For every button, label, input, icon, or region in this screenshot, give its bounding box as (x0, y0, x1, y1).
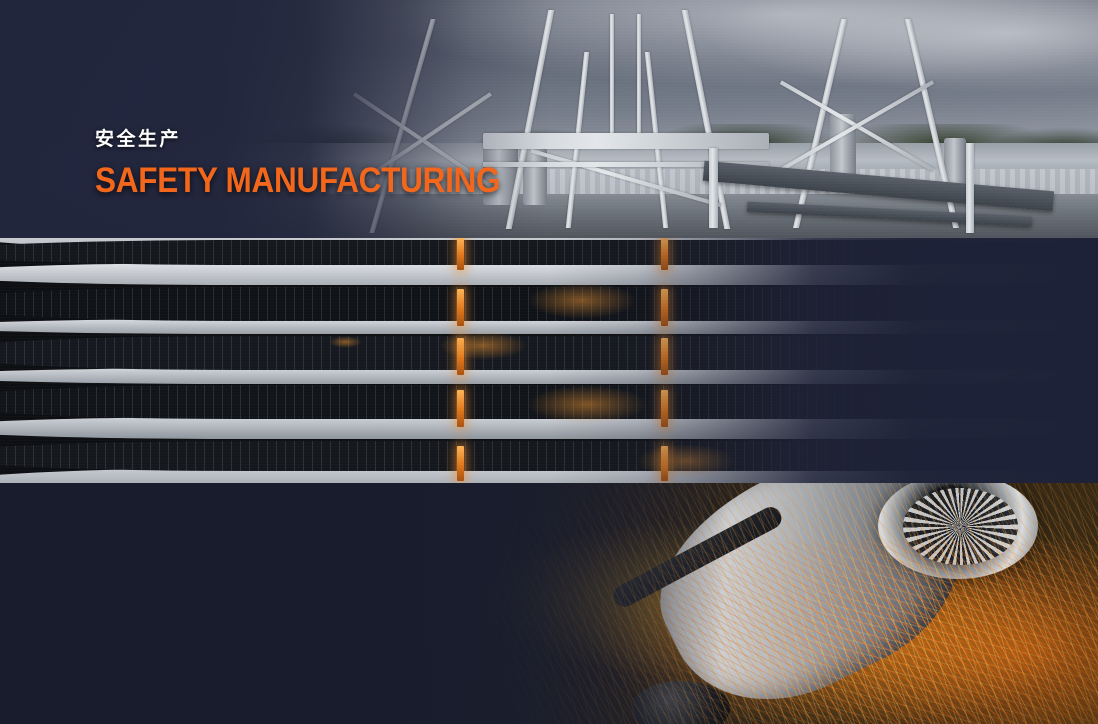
banner-competitive[interactable]: 构铸精品 COMPETITIVE PRODUCTS (0, 483, 1098, 724)
banner-safety-en-title: SAFETY MANUFACTURING (95, 163, 500, 198)
banner-high-end[interactable]: 高端制造 HIGH-END MANUFACTURING (0, 238, 1098, 483)
banner-high-end-overlay (0, 238, 1098, 483)
banner-safety-overlay (0, 0, 1098, 238)
banner-safety[interactable]: 安全生产 SAFETY MANUFACTURING (0, 0, 1098, 238)
banner-safety-cn-title: 安全生产 (95, 130, 545, 149)
banner-safety-caption: 安全生产 SAFETY MANUFACTURING (95, 130, 545, 198)
banner-stage: 安全生产 SAFETY MANUFACTURING (0, 0, 1098, 724)
banner-competitive-overlay (0, 483, 1098, 724)
